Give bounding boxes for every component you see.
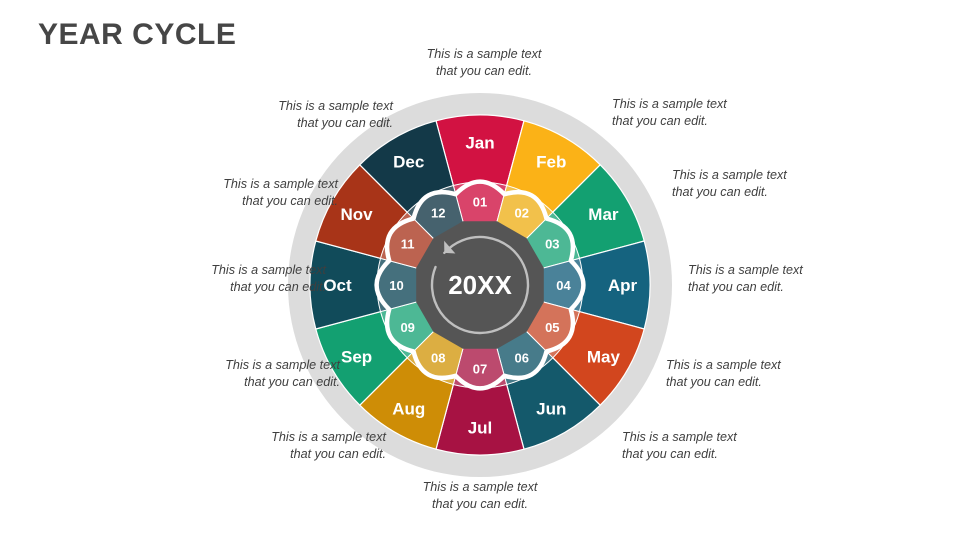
number-label: 07 bbox=[473, 362, 487, 377]
number-label: 05 bbox=[545, 320, 559, 335]
month-label: Sep bbox=[341, 347, 372, 366]
callout-line-2: that you can edit. bbox=[390, 496, 570, 513]
callout-line-2: that you can edit. bbox=[622, 446, 802, 463]
callout-line-1: This is a sample text bbox=[394, 46, 574, 63]
month-label: Feb bbox=[536, 153, 566, 172]
number-label: 01 bbox=[473, 195, 487, 210]
month-label: Jun bbox=[536, 399, 566, 418]
callout-7[interactable]: This is a sample textthat you can edit. bbox=[390, 479, 570, 513]
callout-10[interactable]: This is a sample textthat you can edit. bbox=[146, 262, 326, 296]
callout-line-2: that you can edit. bbox=[666, 374, 846, 391]
callout-line-2: that you can edit. bbox=[158, 193, 338, 210]
center-year-label: 20XX bbox=[448, 270, 512, 300]
callout-line-1: This is a sample text bbox=[612, 96, 792, 113]
callout-9[interactable]: This is a sample textthat you can edit. bbox=[160, 357, 340, 391]
number-label: 02 bbox=[515, 206, 529, 221]
month-label: Nov bbox=[341, 205, 374, 224]
month-label: Dec bbox=[393, 153, 424, 172]
number-label: 12 bbox=[431, 206, 445, 221]
callout-line-1: This is a sample text bbox=[666, 357, 846, 374]
callout-line-2: that you can edit. bbox=[612, 113, 792, 130]
callout-line-1: This is a sample text bbox=[213, 98, 393, 115]
number-label: 08 bbox=[431, 350, 445, 365]
callout-line-1: This is a sample text bbox=[160, 357, 340, 374]
month-label: Jan bbox=[465, 134, 494, 153]
callout-1[interactable]: This is a sample textthat you can edit. bbox=[394, 46, 574, 80]
callout-line-2: that you can edit. bbox=[672, 184, 852, 201]
month-label: Mar bbox=[588, 205, 619, 224]
callout-6[interactable]: This is a sample textthat you can edit. bbox=[622, 429, 802, 463]
callout-12[interactable]: This is a sample textthat you can edit. bbox=[213, 98, 393, 132]
callout-3[interactable]: This is a sample textthat you can edit. bbox=[672, 167, 852, 201]
month-label: May bbox=[587, 347, 621, 366]
number-label: 09 bbox=[400, 320, 414, 335]
slide-canvas: YEAR CYCLE JanFebMarAprMayJunJulAugSepOc… bbox=[0, 0, 960, 540]
callout-line-1: This is a sample text bbox=[622, 429, 802, 446]
callout-line-1: This is a sample text bbox=[390, 479, 570, 496]
callout-11[interactable]: This is a sample textthat you can edit. bbox=[158, 176, 338, 210]
month-label: Aug bbox=[392, 399, 425, 418]
callout-line-1: This is a sample text bbox=[688, 262, 868, 279]
callout-8[interactable]: This is a sample textthat you can edit. bbox=[206, 429, 386, 463]
callout-line-2: that you can edit. bbox=[213, 115, 393, 132]
number-label: 04 bbox=[556, 278, 571, 293]
number-label: 03 bbox=[545, 236, 559, 251]
callout-line-2: that you can edit. bbox=[146, 279, 326, 296]
month-label: Oct bbox=[323, 276, 352, 295]
number-label: 10 bbox=[389, 278, 403, 293]
callout-line-2: that you can edit. bbox=[160, 374, 340, 391]
callout-4[interactable]: This is a sample textthat you can edit. bbox=[688, 262, 868, 296]
callout-line-2: that you can edit. bbox=[394, 63, 574, 80]
callout-line-2: that you can edit. bbox=[688, 279, 868, 296]
callout-line-2: that you can edit. bbox=[206, 446, 386, 463]
callout-line-1: This is a sample text bbox=[158, 176, 338, 193]
month-label: Apr bbox=[608, 276, 638, 295]
callout-line-1: This is a sample text bbox=[206, 429, 386, 446]
callout-5[interactable]: This is a sample textthat you can edit. bbox=[666, 357, 846, 391]
number-label: 11 bbox=[401, 236, 415, 251]
number-label: 06 bbox=[515, 350, 529, 365]
callout-line-1: This is a sample text bbox=[672, 167, 852, 184]
callout-line-1: This is a sample text bbox=[146, 262, 326, 279]
month-label: Jul bbox=[468, 419, 493, 438]
callout-2[interactable]: This is a sample textthat you can edit. bbox=[612, 96, 792, 130]
